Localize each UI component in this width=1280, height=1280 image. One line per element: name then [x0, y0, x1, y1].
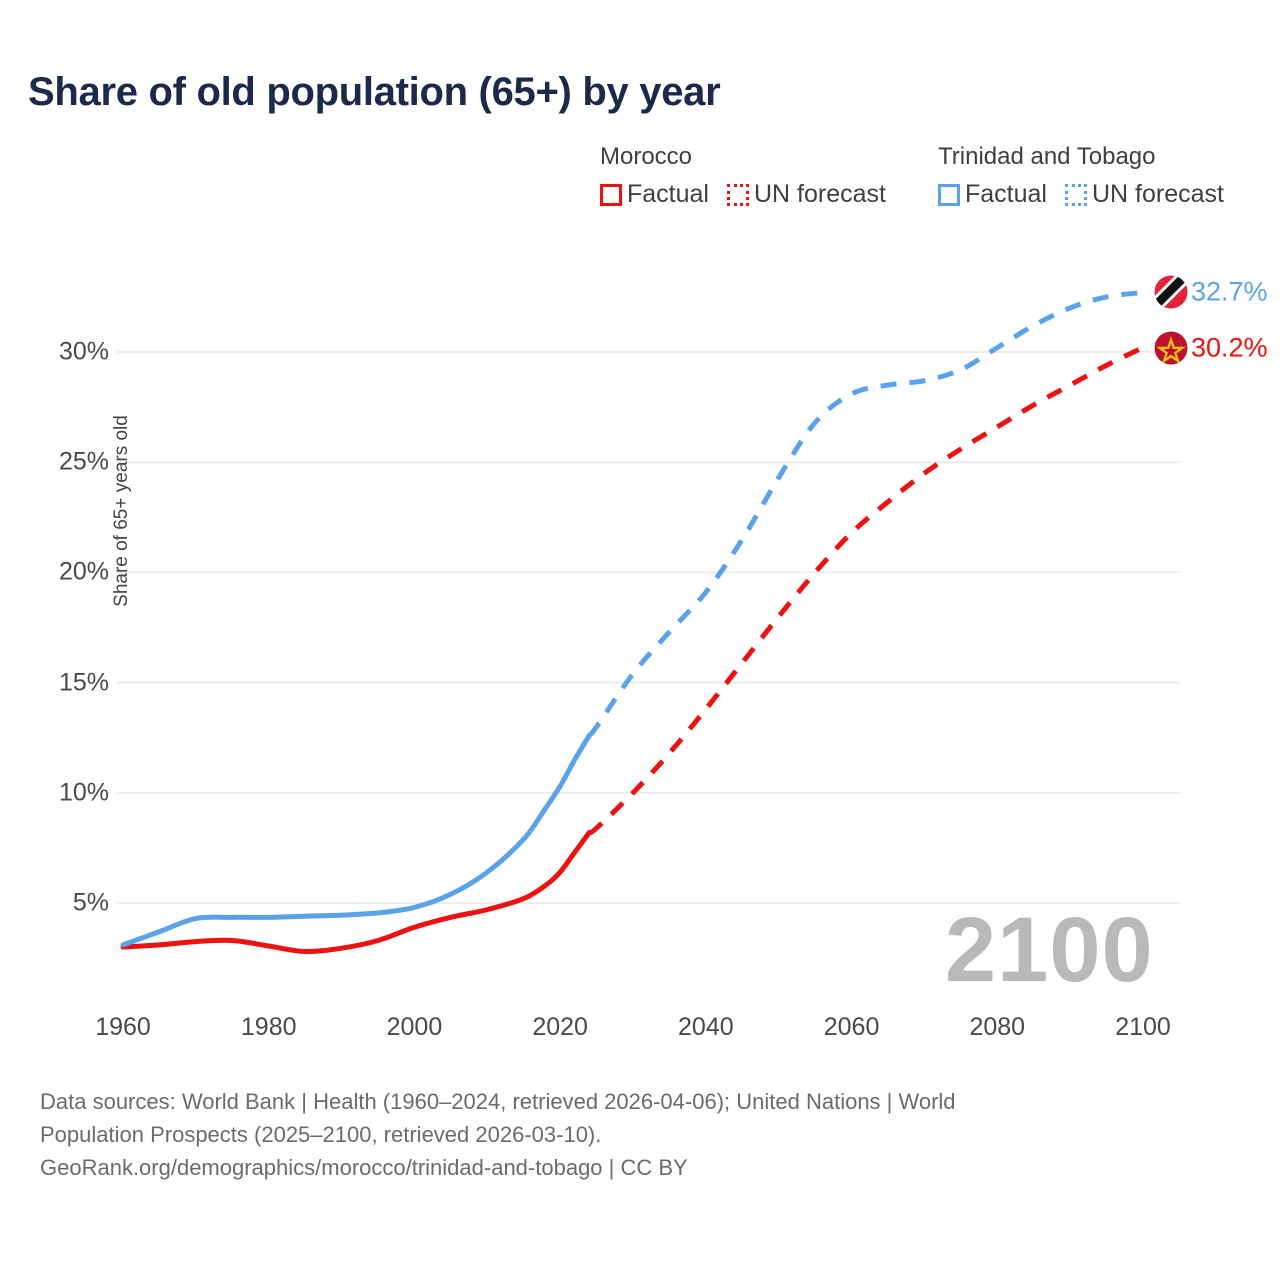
flag-marker-morocco-icon	[1155, 331, 1188, 364]
y-axis-tick-label: 10%	[21, 778, 109, 807]
x-axis-tick-label: 2100	[1083, 1013, 1203, 1042]
x-axis-tick-label: 2020	[500, 1013, 620, 1042]
footer-line-1: Data sources: World Bank | Health (1960–…	[40, 1085, 1240, 1118]
x-axis-tick-label: 1980	[209, 1013, 329, 1042]
chart-page: Share of old population (65+) by year Mo…	[0, 0, 1280, 1280]
x-axis-tick-label: 2040	[646, 1013, 766, 1042]
endpoint-value-label: 30.2%	[1191, 332, 1268, 363]
x-axis-tick-label: 2000	[354, 1013, 474, 1042]
y-axis-tick-label: 15%	[21, 668, 109, 697]
y-axis-tick-label: 20%	[21, 558, 109, 587]
series-line-forecast	[589, 348, 1143, 833]
series-line-factual	[123, 736, 589, 945]
series-line-forecast	[589, 292, 1143, 735]
year-watermark: 2100	[945, 898, 1154, 1003]
footer-line-2: Population Prospects (2025–2100, retriev…	[40, 1118, 1240, 1151]
x-axis-tick-label: 2060	[792, 1013, 912, 1042]
footer: Data sources: World Bank | Health (1960–…	[40, 1085, 1240, 1184]
x-axis-tick-label: 2080	[937, 1013, 1057, 1042]
y-axis-tick-label: 5%	[21, 889, 109, 918]
y-axis-tick-label: 30%	[21, 338, 109, 367]
footer-line-3[interactable]: GeoRank.org/demographics/morocco/trinida…	[40, 1151, 1240, 1184]
y-axis-tick-label: 25%	[21, 448, 109, 477]
x-axis-tick-label: 1960	[63, 1013, 183, 1042]
y-axis-title: Share of 65+ years old	[111, 381, 133, 641]
flag-marker-trinidad-and-tobago-icon	[1155, 276, 1188, 309]
endpoint-value-label: 32.7%	[1191, 277, 1268, 308]
series-line-factual	[123, 832, 589, 951]
